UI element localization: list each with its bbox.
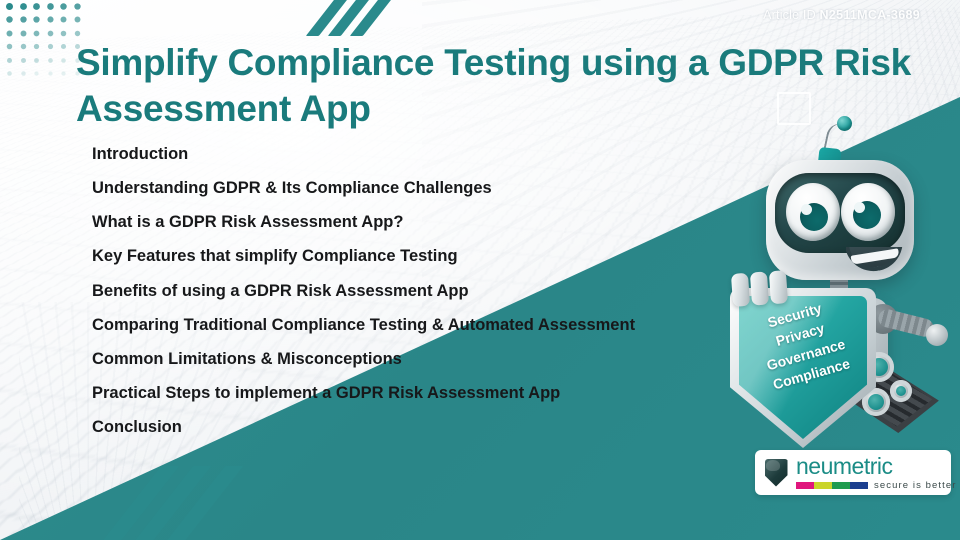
dot-grid-dot bbox=[34, 30, 40, 36]
toc-item[interactable]: What is a GDPR Risk Assessment App? bbox=[92, 205, 742, 239]
dot-grid-dot bbox=[6, 30, 12, 36]
article-id-value: N2511MCA-3689 bbox=[820, 8, 920, 22]
logo-color-bar bbox=[832, 482, 850, 489]
dot-grid-dot bbox=[20, 3, 27, 10]
article-id: Article ID N2511MCA-3689 bbox=[763, 8, 920, 22]
dot-grid-dot bbox=[34, 44, 39, 49]
dot-grid-dot bbox=[61, 31, 67, 37]
dot-grid-dot bbox=[48, 44, 53, 49]
dot-grid-row bbox=[6, 16, 81, 23]
dot-grid-row bbox=[6, 57, 81, 64]
dot-grid-row bbox=[6, 30, 81, 37]
toc-item[interactable]: Conclusion bbox=[92, 411, 742, 445]
dot-grid-row bbox=[6, 43, 81, 50]
diagonal-slashes-top bbox=[323, 0, 380, 36]
robot-head bbox=[766, 160, 914, 280]
robot-mouth bbox=[846, 247, 904, 273]
robot-mascot: SecurityPrivacyGovernanceCompliance bbox=[726, 108, 960, 438]
dot-grid-dot bbox=[20, 30, 26, 36]
dot-grid-dot bbox=[74, 17, 80, 23]
dot-grid-dot bbox=[7, 71, 12, 76]
dot-grid-dot bbox=[33, 3, 40, 10]
dot-grid-dot bbox=[21, 71, 25, 75]
dot-grid-dot bbox=[47, 3, 54, 10]
robot-eye-glint-right bbox=[854, 202, 865, 213]
dot-grid-dot bbox=[48, 58, 53, 63]
logo-color-bars bbox=[796, 482, 868, 489]
toc-item[interactable]: Comparing Traditional Compliance Testing… bbox=[92, 308, 742, 342]
logo-tagline: secure is better bbox=[874, 480, 957, 491]
table-of-contents: IntroductionUnderstanding GDPR & Its Com… bbox=[92, 137, 742, 445]
robot-eye-right bbox=[841, 183, 895, 241]
shield-icon bbox=[763, 457, 789, 488]
robot-visor bbox=[775, 173, 905, 253]
toc-item[interactable]: Introduction bbox=[92, 137, 742, 171]
robot-finger bbox=[769, 270, 788, 304]
dot-grid-dot bbox=[61, 44, 66, 49]
mascot-shield: SecurityPrivacyGovernanceCompliance bbox=[730, 288, 876, 448]
dot-grid-dot bbox=[61, 3, 68, 10]
toc-item[interactable]: Key Features that simplify Compliance Te… bbox=[92, 240, 742, 274]
brand-logo[interactable]: neumetric secure is better bbox=[755, 450, 951, 495]
wheel-roller bbox=[890, 380, 912, 402]
logo-color-bar bbox=[850, 482, 868, 489]
robot-fingers-left bbox=[731, 270, 788, 307]
toc-item[interactable]: Practical Steps to implement a GDPR Risk… bbox=[92, 376, 742, 410]
dot-grid-dot bbox=[7, 58, 12, 63]
dot-grid-dot bbox=[47, 30, 53, 36]
dot-grid-dot bbox=[20, 17, 26, 23]
logo-text-block: neumetric secure is better bbox=[796, 455, 957, 491]
dot-grid-dot bbox=[20, 44, 25, 49]
logo-color-bar bbox=[796, 482, 814, 489]
dot-grid-row bbox=[6, 3, 81, 10]
toc-item[interactable]: Understanding GDPR & Its Compliance Chal… bbox=[92, 171, 742, 205]
article-id-label: Article ID bbox=[763, 8, 816, 22]
dot-grid-dot bbox=[7, 44, 13, 50]
dot-grid-dot bbox=[6, 17, 13, 24]
toc-item[interactable]: Common Limitations & Misconceptions bbox=[92, 342, 742, 376]
dot-grid-dot bbox=[74, 3, 80, 9]
slide-canvas: Article ID N2511MCA-3689 Simplify Compli… bbox=[0, 0, 960, 540]
dot-grid-dot bbox=[21, 58, 26, 63]
toc-item[interactable]: Benefits of using a GDPR Risk Assessment… bbox=[92, 274, 742, 308]
dot-grid-accent bbox=[6, 3, 81, 83]
dot-grid-dot bbox=[48, 71, 52, 75]
dot-grid-dot bbox=[62, 71, 66, 75]
dot-grid-dot bbox=[6, 3, 13, 10]
dot-grid-dot bbox=[47, 17, 53, 23]
diagonal-slashes-bottom bbox=[130, 466, 212, 540]
antenna-ball-icon bbox=[837, 116, 852, 131]
dot-grid-row bbox=[6, 70, 81, 77]
logo-wordmark: neumetric bbox=[796, 455, 957, 478]
robot-eye-glint-left bbox=[801, 204, 812, 215]
robot-finger bbox=[731, 273, 750, 307]
robot-eye-left bbox=[786, 183, 840, 241]
robot-finger bbox=[750, 271, 769, 305]
dot-grid-dot bbox=[34, 58, 39, 63]
logo-bottom-row: secure is better bbox=[796, 480, 957, 491]
dot-grid-dot bbox=[61, 17, 67, 23]
dot-grid-dot bbox=[62, 58, 67, 63]
logo-color-bar bbox=[814, 482, 832, 489]
dot-grid-dot bbox=[35, 71, 39, 75]
dot-grid-dot bbox=[75, 31, 80, 36]
dot-grid-dot bbox=[34, 17, 40, 23]
